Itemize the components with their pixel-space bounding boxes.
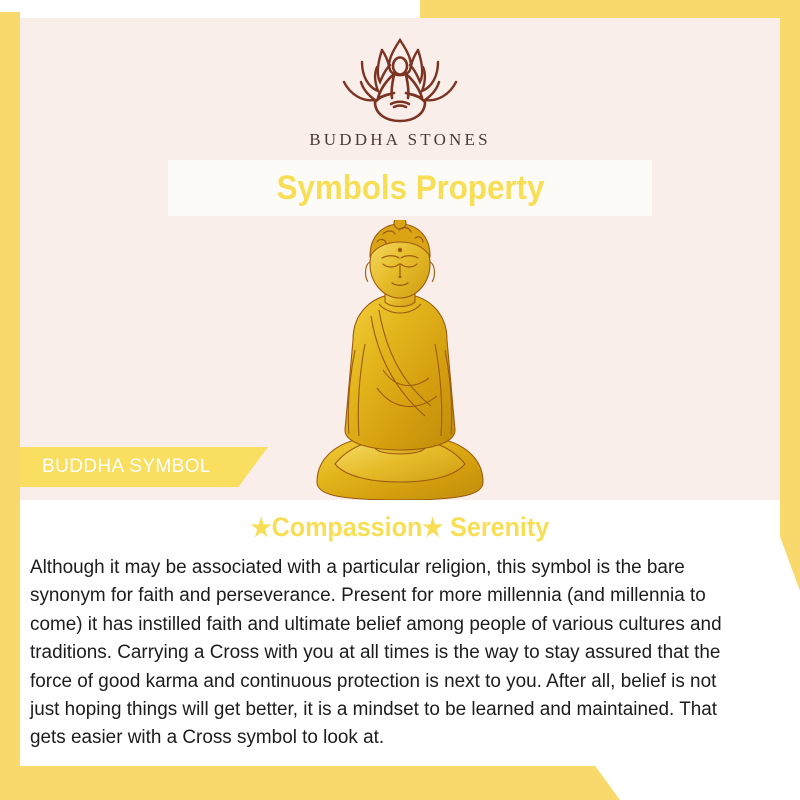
star-icon-right: ★ [422, 514, 443, 542]
infographic-page: BUDDHA STONES Symbols Property [0, 0, 800, 800]
content-paragraph: Although it may be associated with a par… [30, 553, 744, 752]
lotus-meditation-icon [20, 32, 780, 128]
section-ribbon: BUDDHA SYMBOL [20, 447, 268, 487]
hero-panel: BUDDHA STONES Symbols Property [20, 18, 780, 500]
section-ribbon-label: BUDDHA SYMBOL [20, 456, 211, 478]
brand-name: BUDDHA STONES [20, 130, 780, 150]
content-headline: ★Compassion★ Serenity [47, 512, 754, 543]
brand-logo: BUDDHA STONES [20, 32, 780, 150]
page-title-band: Symbols Property [168, 160, 652, 216]
decorative-left-strip [0, 12, 20, 788]
headline-word-one: Compassion [272, 512, 423, 542]
headline-word-two: Serenity [450, 512, 549, 542]
page-title: Symbols Property [276, 169, 544, 208]
star-icon-left: ★ [251, 514, 272, 542]
content-panel: ★Compassion★ Serenity Although it may be… [20, 500, 780, 766]
decorative-bottom-band [0, 766, 620, 800]
